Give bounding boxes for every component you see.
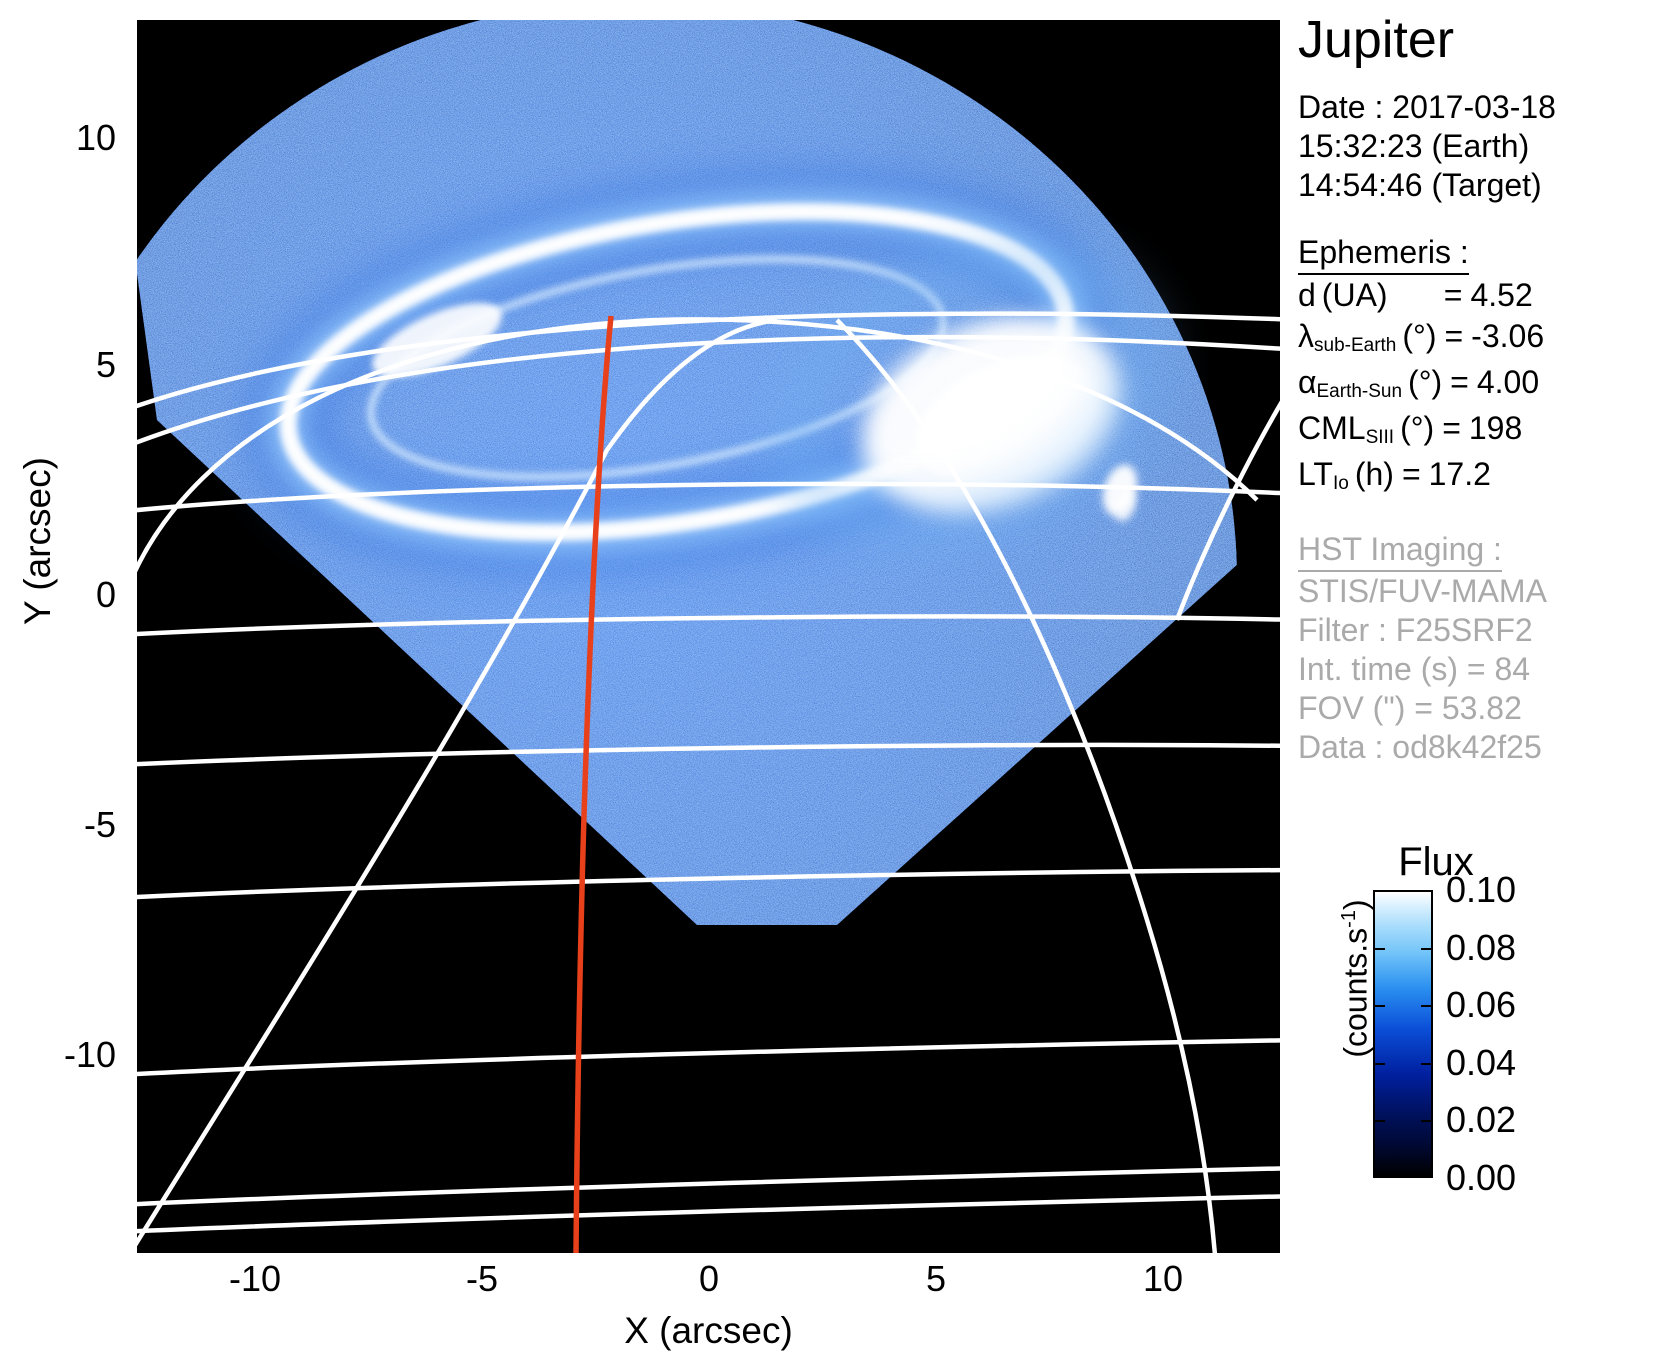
colorbar-tick-label: 0.10 bbox=[1446, 869, 1516, 911]
metadata-panel: Jupiter Date : 2017-03-18 15:32:23 (Eart… bbox=[1298, 0, 1676, 790]
hst-imaging-block: HST Imaging : STIS/FUV-MAMA Filter : F25… bbox=[1298, 530, 1676, 767]
ephemeris-equals: = bbox=[1402, 454, 1421, 495]
ephemeris-row-io-local-time: LT Io (h) = 17.2 bbox=[1298, 454, 1676, 500]
plot-svg bbox=[137, 20, 1280, 1253]
colorbar-tick bbox=[1421, 1120, 1433, 1122]
observation-time-target: 14:54:46 (Target) bbox=[1298, 166, 1676, 205]
ephemeris-equals: = bbox=[1444, 316, 1463, 357]
colorbar-gradient bbox=[1373, 890, 1433, 1178]
hst-instrument: STIS/FUV-MAMA bbox=[1298, 572, 1676, 611]
colorbar-tick bbox=[1421, 890, 1433, 892]
x-tick-label: 5 bbox=[926, 1258, 946, 1300]
ephemeris-unit: (°) bbox=[1402, 316, 1436, 357]
colorbar-unit-exponent: -1 bbox=[1338, 910, 1360, 928]
colorbar-tick-label: 0.08 bbox=[1446, 927, 1516, 969]
ephemeris-equals: = bbox=[1444, 275, 1463, 316]
colorbar-tick bbox=[1373, 1120, 1385, 1122]
ephemeris-subscript: Earth-Sun bbox=[1317, 371, 1403, 412]
x-axis-title: X (arcsec) bbox=[137, 1310, 1280, 1352]
y-tick-label: 0 bbox=[96, 574, 116, 616]
ephemeris-symbol: d bbox=[1298, 275, 1316, 316]
page-title: Jupiter bbox=[1298, 14, 1676, 66]
y-axis-title: Y (arcsec) bbox=[17, 411, 59, 671]
y-tick-label: 10 bbox=[76, 117, 116, 159]
colorbar-tick bbox=[1373, 948, 1385, 950]
aurora-image-plot bbox=[137, 20, 1280, 1253]
ephemeris-row-phase-angle: α Earth-Sun (°) = 4.00 bbox=[1298, 362, 1676, 408]
ephemeris-row-cml: CML SIII (°) = 198 bbox=[1298, 408, 1676, 454]
x-axis-ticks: -10 -5 0 5 10 bbox=[137, 1258, 1280, 1318]
colorbar-tick bbox=[1421, 1063, 1433, 1065]
y-tick-label: -10 bbox=[64, 1034, 116, 1076]
ephemeris-equals: = bbox=[1442, 408, 1461, 449]
ephemeris-value: 198 bbox=[1469, 408, 1522, 449]
ephemeris-value: -3.06 bbox=[1471, 316, 1544, 357]
ephemeris-subscript: sub-Earth bbox=[1314, 325, 1396, 366]
x-tick-label: -10 bbox=[229, 1258, 281, 1300]
ephemeris-symbol: CML bbox=[1298, 408, 1366, 449]
ephemeris-unit: (UA) bbox=[1322, 275, 1444, 316]
colorbar-unit-text: (counts.s bbox=[1338, 928, 1374, 1058]
colorbar: Flux 0.10 0.08 0.06 0.04 0.02 0.00 (coun… bbox=[1298, 840, 1676, 1180]
ephemeris-equals: = bbox=[1450, 362, 1469, 403]
colorbar-tick bbox=[1421, 948, 1433, 950]
hst-filter: Filter : F25SRF2 bbox=[1298, 611, 1676, 650]
ephemeris-value: 17.2 bbox=[1429, 454, 1491, 495]
y-tick-label: 5 bbox=[96, 344, 116, 386]
ephemeris-unit: (°) bbox=[1408, 362, 1442, 403]
colorbar-tick bbox=[1421, 1005, 1433, 1007]
hst-integration-time: Int. time (s) = 84 bbox=[1298, 650, 1676, 689]
observation-time-earth: 15:32:23 (Earth) bbox=[1298, 127, 1676, 166]
colorbar-tick-label: 0.02 bbox=[1446, 1099, 1516, 1141]
colorbar-tick-label: 0.00 bbox=[1446, 1157, 1516, 1199]
hst-imaging-heading: HST Imaging : bbox=[1298, 530, 1502, 572]
hst-dataset-id: Data : od8k42f25 bbox=[1298, 728, 1676, 767]
colorbar-tick bbox=[1373, 1063, 1385, 1065]
ephemeris-unit: (°) bbox=[1400, 408, 1434, 449]
ephemeris-subscript: SIII bbox=[1366, 417, 1395, 458]
x-tick-label: 10 bbox=[1143, 1258, 1183, 1300]
y-tick-label: -5 bbox=[84, 804, 116, 846]
colorbar-tick bbox=[1373, 890, 1385, 892]
ephemeris-symbol: λ bbox=[1298, 316, 1314, 357]
ephemeris-heading: Ephemeris : bbox=[1298, 233, 1469, 275]
ephemeris-row-sub-earth-latitude: λ sub-Earth (°) = -3.06 bbox=[1298, 316, 1676, 362]
colorbar-tick bbox=[1373, 1005, 1385, 1007]
colorbar-unit-label: (counts.s-1) bbox=[1338, 859, 1375, 1099]
observation-date: Date : 2017-03-18 bbox=[1298, 88, 1676, 127]
ephemeris-symbol: α bbox=[1298, 362, 1317, 403]
x-tick-label: -5 bbox=[466, 1258, 498, 1300]
hst-field-of-view: FOV (") = 53.82 bbox=[1298, 689, 1676, 728]
x-tick-label: 0 bbox=[699, 1258, 719, 1300]
ephemeris-subscript: Io bbox=[1333, 463, 1349, 504]
ephemeris-row-distance: d (UA) = 4.52 bbox=[1298, 275, 1676, 316]
ephemeris-unit: (h) bbox=[1355, 454, 1394, 495]
colorbar-tick-label: 0.04 bbox=[1446, 1042, 1516, 1084]
ephemeris-value: 4.00 bbox=[1477, 362, 1539, 403]
colorbar-tick-label: 0.06 bbox=[1446, 984, 1516, 1026]
ephemeris-value: 4.52 bbox=[1470, 275, 1532, 316]
observation-date-block: Date : 2017-03-18 15:32:23 (Earth) 14:54… bbox=[1298, 88, 1676, 205]
ephemeris-symbol: LT bbox=[1298, 454, 1333, 495]
ephemeris-block: Ephemeris : d (UA) = 4.52 λ sub-Earth (°… bbox=[1298, 233, 1676, 500]
colorbar-unit-close: ) bbox=[1338, 899, 1374, 910]
